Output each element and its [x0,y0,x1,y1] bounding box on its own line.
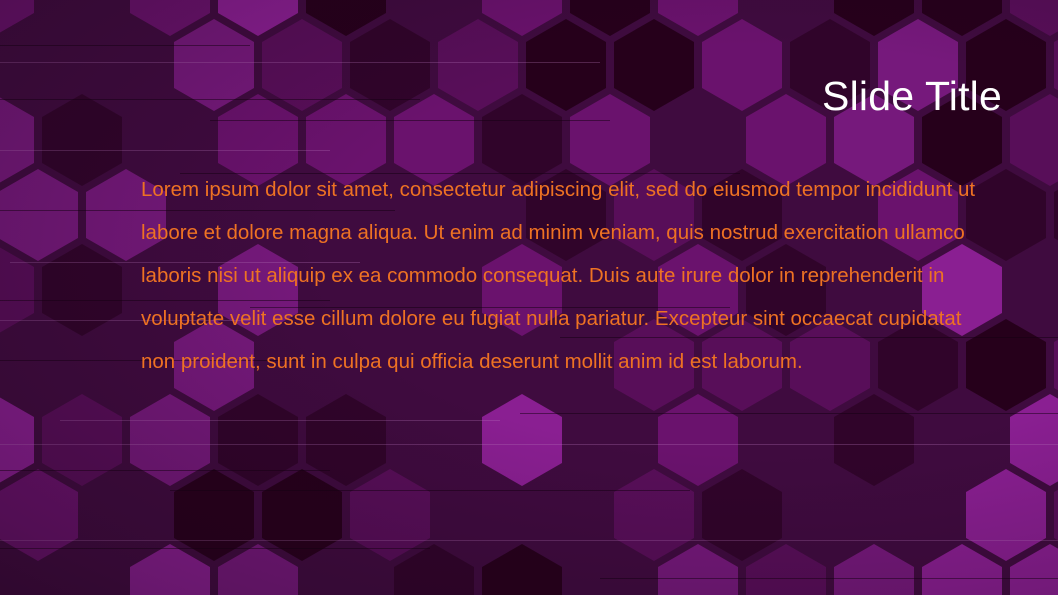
slide-body-text: Lorem ipsum dolor sit amet, consectetur … [141,168,989,383]
slide-canvas: Slide Title Lorem ipsum dolor sit amet, … [0,0,1058,595]
slide-content: Slide Title Lorem ipsum dolor sit amet, … [0,0,1058,595]
page-title: Slide Title [822,74,1002,118]
